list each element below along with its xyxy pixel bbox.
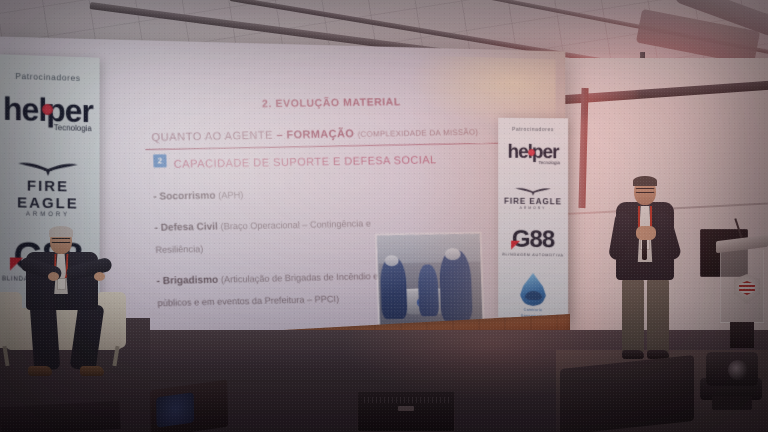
speaker-grille <box>156 392 194 428</box>
panelist-badge <box>57 278 66 290</box>
logo-helper-dot-icon <box>528 149 535 156</box>
equipment-vent-strip <box>364 397 450 403</box>
conference-stage-photo: 2. EVOLUÇÃO MATERIAL QUANTO AO AGENTE – … <box>0 0 768 432</box>
eagle-wing-icon <box>16 157 80 178</box>
logo-g88-tagline: BLINDAGEM AUTOMOTIVA <box>498 252 568 257</box>
bullet-term: - Brigadismo <box>156 275 221 287</box>
presenter-hands <box>636 226 656 240</box>
bullet-detail: (APH) <box>218 190 243 200</box>
logo-saneamento: Camboriú Saneamento <box>498 272 568 319</box>
glasses-icon <box>635 188 655 193</box>
bullet-term: - Defesa Civil <box>154 222 220 234</box>
slide-subtitle: QUANTO AO AGENTE – FORMAÇÃO (COMPLEXIDAD… <box>151 122 478 146</box>
sponsor-banner-heading: Patrocinadores <box>0 70 100 83</box>
photo-person <box>439 250 473 322</box>
logo-saneamento-wordmark: Camboriú <box>498 307 568 313</box>
presenter-shoe <box>622 350 644 359</box>
lectern <box>716 238 768 350</box>
sponsor-banner-right: Patrocinadores helper Tecnologia FIRE EA… <box>498 118 568 319</box>
foreground-shadow <box>0 401 121 432</box>
light-head <box>706 352 758 386</box>
water-drop-icon <box>520 273 546 307</box>
panelist-hand <box>94 272 105 281</box>
list-item: - Socorrismo (APH) <box>153 180 418 207</box>
equipment-logo <box>398 406 414 411</box>
seated-panelist <box>18 228 126 358</box>
presenter-leg <box>647 278 669 354</box>
section-number-badge: 2 <box>153 154 167 167</box>
standing-presenter <box>612 178 684 364</box>
logo-helper-dot-icon <box>42 104 53 115</box>
slide-subtitle-part2: – FORMAÇÃO <box>276 128 358 142</box>
bullet-term: - Socorrismo <box>153 190 218 202</box>
slide-subtitle-part3: (COMPLEXIDADE DA MISSÃO) <box>357 128 478 139</box>
logo-fire-eagle-wordmark: FIRE EAGLE <box>0 177 100 213</box>
logo-fire-eagle: FIRE EAGLE ARMORY <box>498 185 568 211</box>
presenter-leg <box>622 278 644 354</box>
photo-person <box>418 264 440 316</box>
logo-fire-eagle: FIRE EAGLE ARMORY <box>0 157 100 219</box>
panelist-shoe <box>28 366 52 376</box>
glasses-icon <box>51 238 71 243</box>
logo-fire-eagle-tagline: ARMORY <box>0 211 100 219</box>
panelist-hair <box>49 226 73 237</box>
panelist-shoe <box>80 366 104 376</box>
logo-g88: G88 BLINDAGEM AUTOMOTIVA <box>498 227 568 257</box>
presenter-legs <box>620 278 670 354</box>
moving-head-light <box>700 352 762 412</box>
photo-person <box>380 257 408 319</box>
slide-title: 2. EVOLUÇÃO MATERIAL <box>262 96 401 110</box>
stage-equipment-panel <box>357 391 455 432</box>
slide-photo-rescue-team <box>377 234 483 327</box>
panelist-hand <box>48 272 59 281</box>
logo-g88-wordmark: G88 <box>498 227 568 252</box>
light-lens-icon <box>728 360 748 380</box>
section-heading: CAPACIDADE DE SUPORTE E DEFESA SOCIAL <box>173 154 436 170</box>
logo-helper: helper Tecnologia <box>498 143 568 166</box>
lectern-base <box>730 322 754 348</box>
logo-helper: helper Tecnologia <box>0 92 100 133</box>
lectern-body <box>720 249 764 323</box>
sponsor-banner-heading: Patrocinadores <box>498 127 568 134</box>
presenter-hair <box>633 176 657 186</box>
eagle-wing-icon <box>514 185 552 198</box>
official-crest-icon <box>734 274 760 304</box>
light-base <box>712 396 752 410</box>
panelist-leg <box>30 303 61 371</box>
floor-monitor-speaker <box>560 355 694 432</box>
slide-subtitle-part1: QUANTO AO AGENTE <box>151 130 276 144</box>
